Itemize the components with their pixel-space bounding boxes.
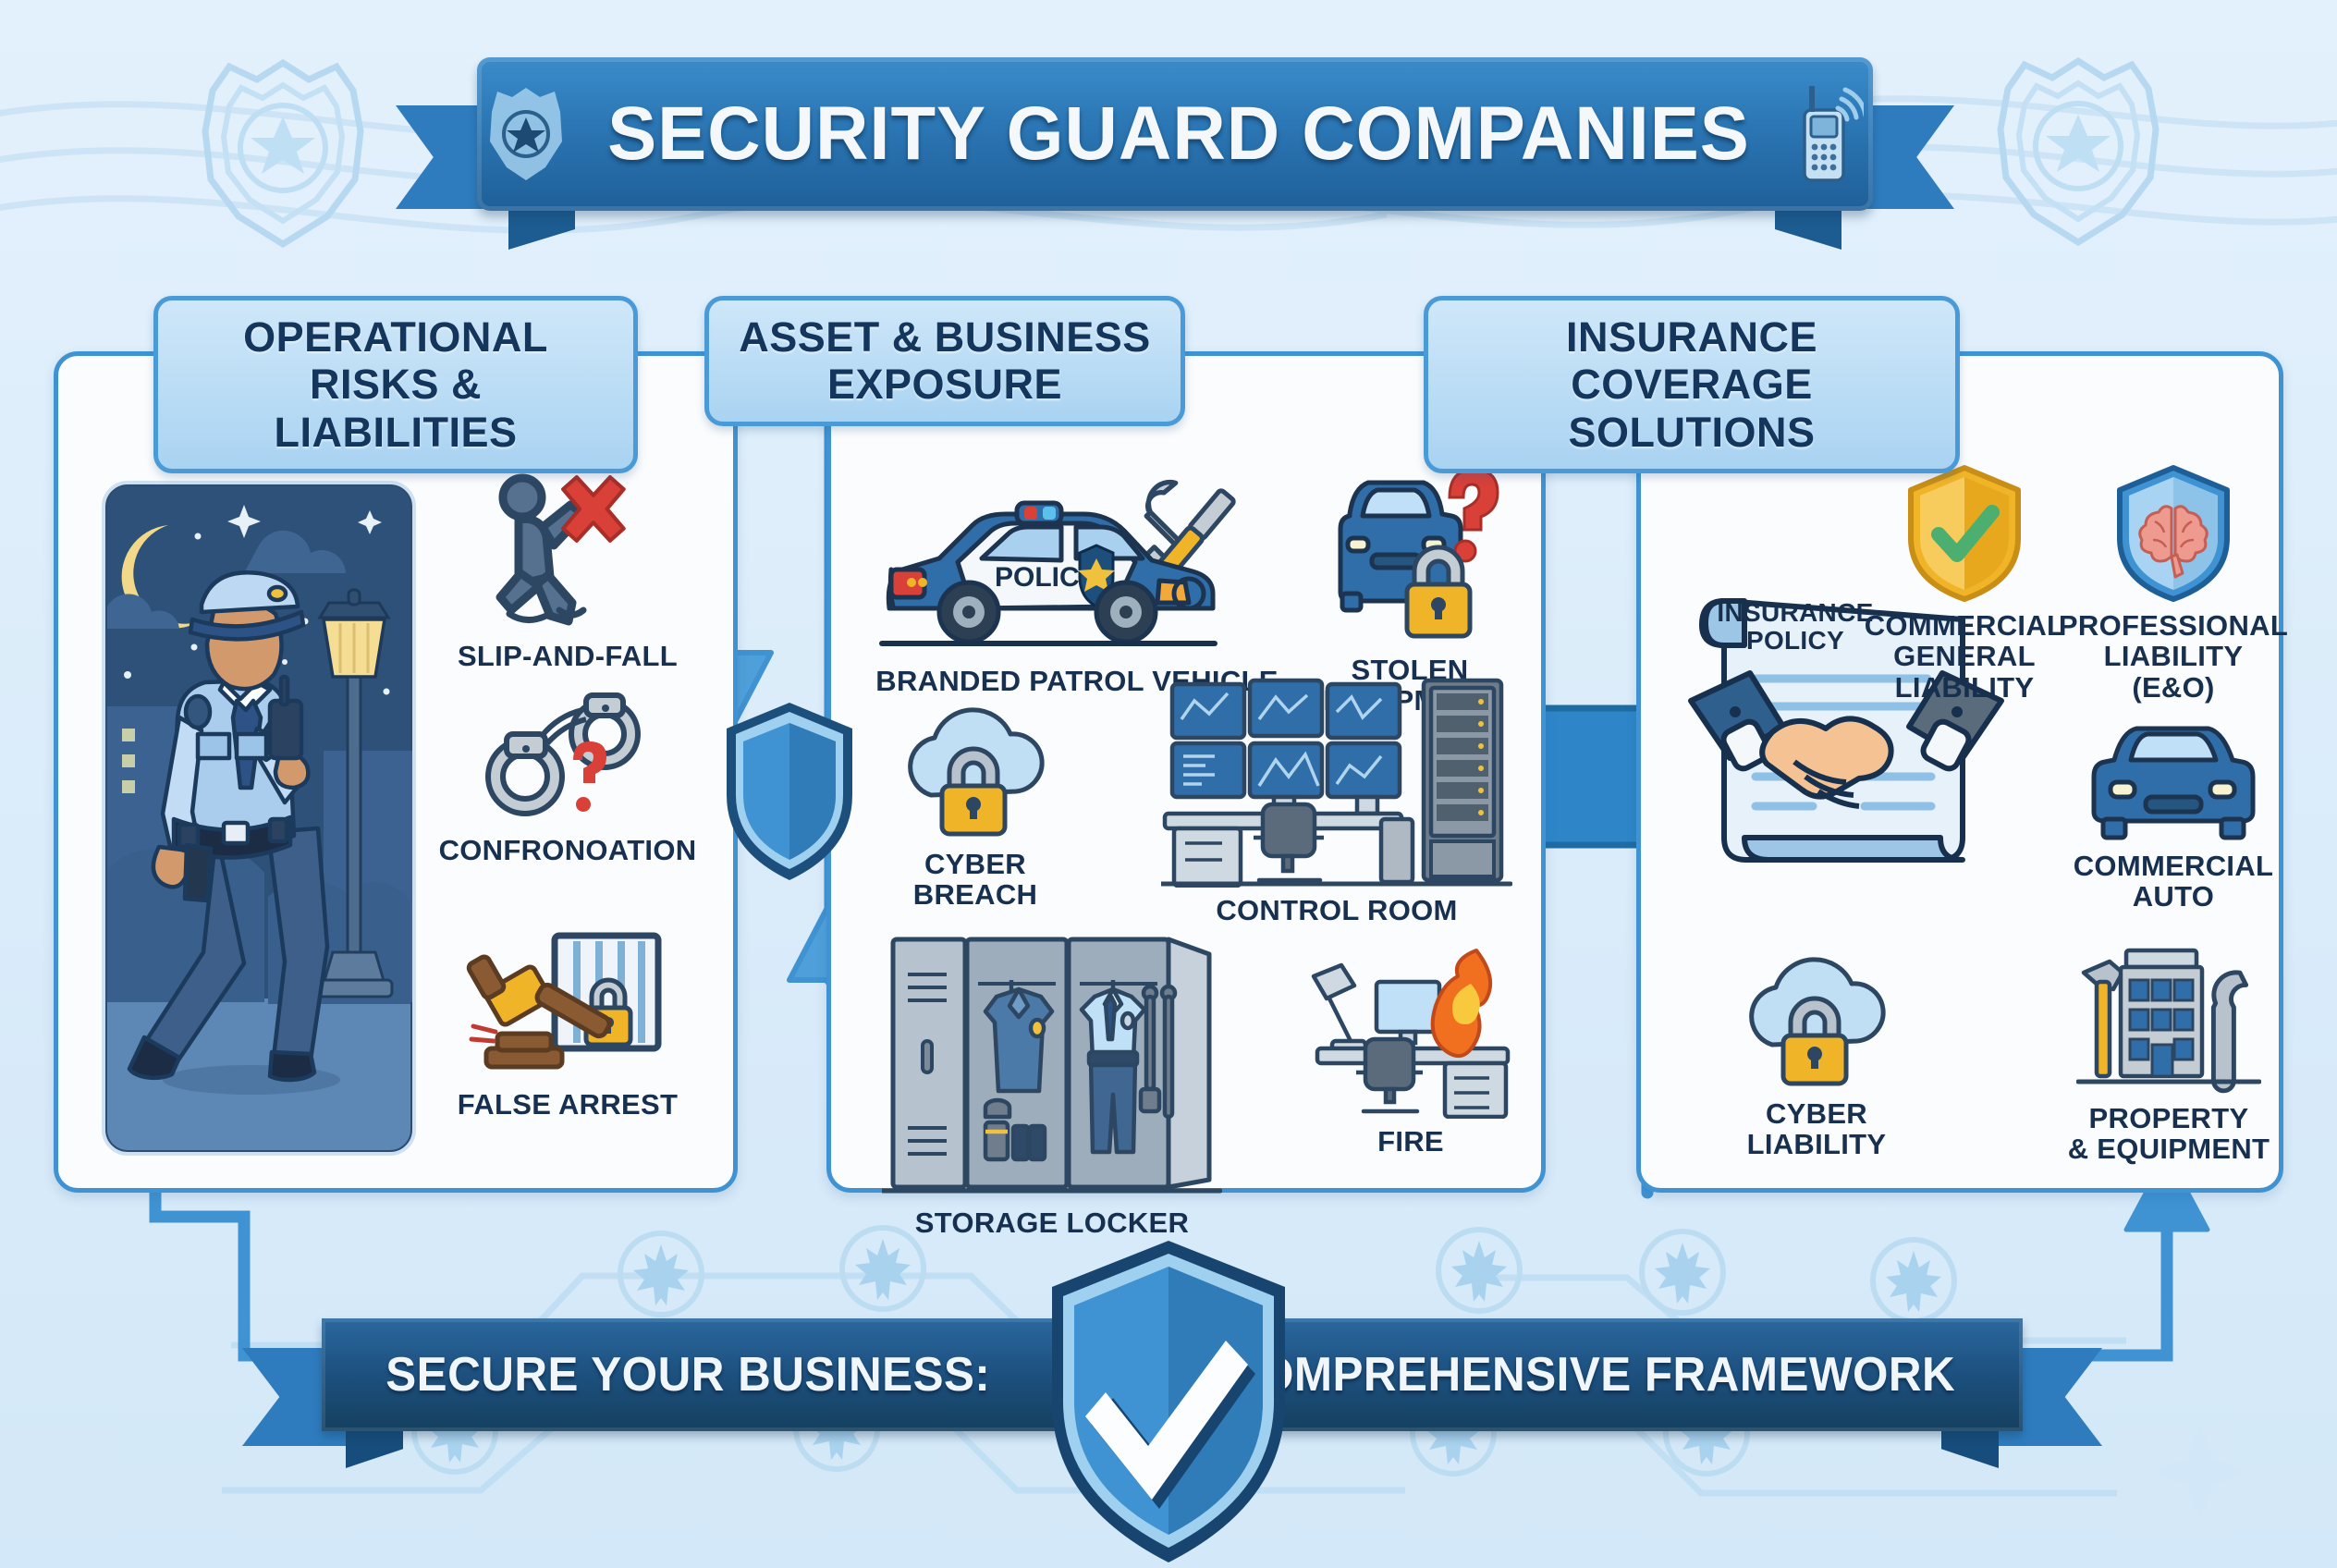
item-label-line2: GENERAL [1893, 640, 2036, 672]
panel1-title-line2: RISKS & LIABILITIES [275, 361, 518, 455]
blue-shield-brain-icon [2114, 464, 2233, 603]
item-label-line2: AUTO [2133, 880, 2214, 913]
walkie-talkie-icon [1792, 80, 1864, 188]
item-label-line1: PROFESSIONAL [2059, 609, 2288, 642]
shield-divider-icon [721, 699, 858, 884]
item-commercial-auto[interactable]: COMMERCIAL AUTO [2058, 723, 2289, 913]
panel2-title-line2: EXPOSURE [827, 361, 1062, 408]
panel2-title-line1: ASSET & BUSINESS [739, 313, 1151, 361]
header-ribbon: SECURITY GUARD COMPANIES [477, 57, 1873, 224]
cloud-padlock-icon [1733, 952, 1900, 1091]
panel3-title-line2: COVERAGE SOLUTIONS [1568, 361, 1815, 455]
police-badge-icon [486, 84, 566, 184]
panel3-title-line1: INSURANCE [1566, 313, 1817, 361]
panel-header-asset-business-exposure[interactable]: ASSET & BUSINESS EXPOSURE [704, 296, 1185, 426]
blue-car-front-icon [2090, 723, 2257, 843]
item-label-line2: LIABILITY [1747, 1128, 1887, 1160]
infographic-canvas: SECURITY GUARD COMPANIES OPE [0, 0, 2337, 1568]
footer-left-text: SECURE YOUR BUSINESS: [385, 1347, 990, 1403]
item-label-line2: & EQUIPMENT [2068, 1133, 2270, 1165]
panel-header-operational-risks[interactable]: OPERATIONAL RISKS & LIABILITIES [153, 296, 638, 473]
item-commercial-general-liability[interactable]: COMMERCIAL GENERAL LIABILITY [1867, 464, 2062, 703]
footer-right-text: COMPREHENSIVE FRAMEWORK [1225, 1347, 1955, 1403]
panel1-title-line1: OPERATIONAL [243, 313, 548, 361]
item-label-line1: INSURANCE [1717, 598, 1873, 627]
page-title: SECURITY GUARD COMPANIES [607, 91, 1750, 178]
shield-checkmark-icon [1043, 1235, 1294, 1568]
building-tools-icon [2076, 943, 2261, 1096]
item-property-equipment[interactable]: PROPERTY & EQUIPMENT [2049, 943, 2289, 1165]
panel-header-insurance-coverage[interactable]: INSURANCE COVERAGE SOLUTIONS [1424, 296, 1960, 473]
item-label-line1: COMMERCIAL [1865, 609, 2065, 642]
item-label-line1: PROPERTY [2089, 1102, 2249, 1134]
item-label-line1: CYBER [1766, 1097, 1867, 1130]
item-label-line2: POLICY [1746, 626, 1844, 655]
gold-shield-check-icon [1905, 464, 2024, 603]
item-professional-liability[interactable]: PROFESSIONAL LIABILITY (E&O) [2067, 464, 2280, 703]
item-label-line1: COMMERCIAL [2074, 850, 2274, 882]
item-cyber-liability[interactable]: CYBER LIABILITY [1710, 952, 1923, 1160]
item-label-line3: LIABILITY [1895, 671, 2035, 704]
item-label-line2: LIABILITY (E&O) [2104, 640, 2244, 703]
